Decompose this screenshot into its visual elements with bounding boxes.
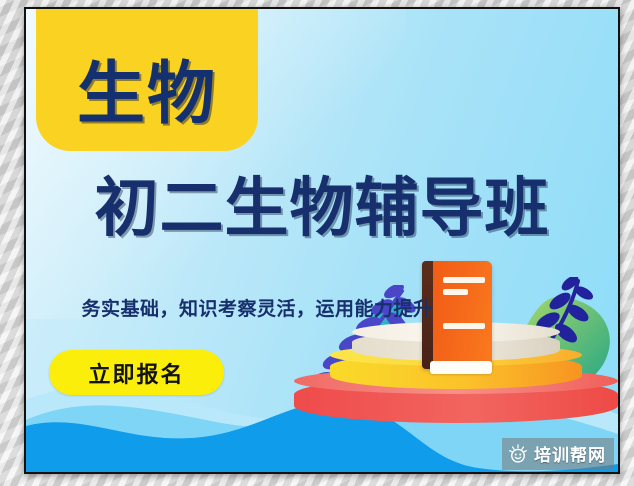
watermark-label: 培训帮网 xyxy=(534,441,606,466)
book-line xyxy=(443,323,485,329)
site-watermark: 培训帮网 xyxy=(502,438,614,470)
page-subtitle: 务实基础，知识考察灵活，运用能力提升 xyxy=(26,294,488,321)
page-title: 初二生物辅导班 xyxy=(32,177,612,242)
enroll-now-button[interactable]: 立即报名 xyxy=(49,350,224,395)
sun-face-icon xyxy=(508,444,528,464)
book-pages xyxy=(430,361,492,374)
subject-badge-label: 生物 xyxy=(77,61,217,151)
course-promo-banner: 生物 xyxy=(24,7,620,474)
page-backdrop: 生物 xyxy=(0,0,634,486)
subject-badge: 生物 xyxy=(36,7,258,151)
book-podium-illustration xyxy=(294,249,618,434)
book-line xyxy=(443,277,485,283)
